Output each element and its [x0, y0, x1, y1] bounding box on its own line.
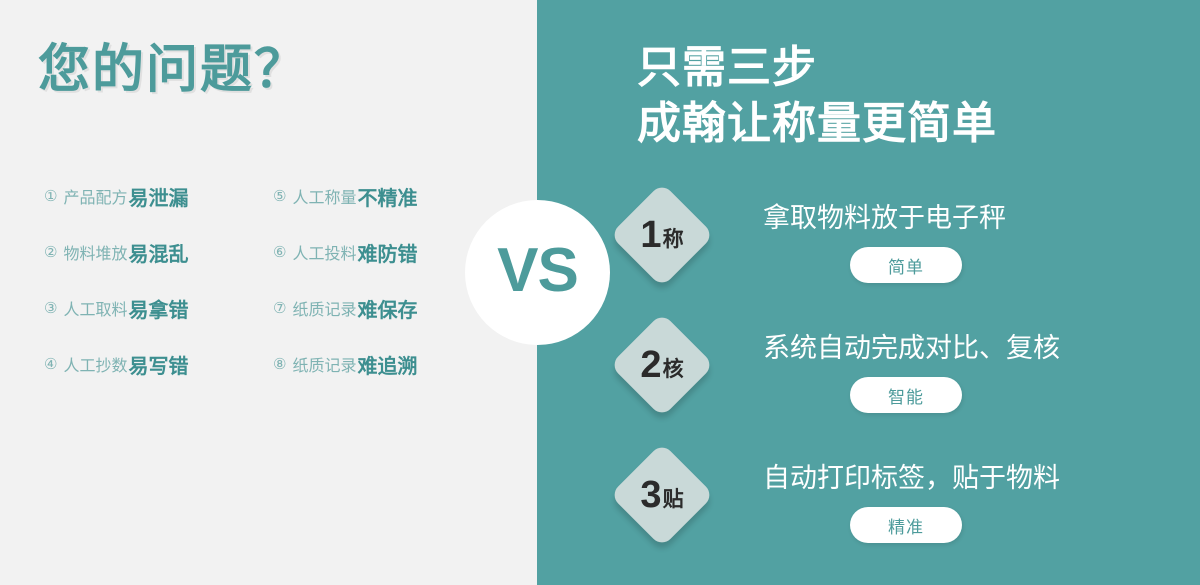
step-row: 1 称 拿取物料放于电子秤 简单: [625, 190, 1185, 320]
item-plain-text: 人工取料: [63, 296, 127, 320]
item-number: ⑦: [273, 301, 286, 316]
item-number: ③: [44, 301, 57, 316]
step-badge-pill: 智能: [850, 377, 962, 413]
step-row: 2 核 系统自动完成对比、复核 智能: [625, 320, 1185, 450]
step-pill-label: 智能: [888, 383, 924, 408]
item-strong-text: 易泄漏: [128, 182, 188, 211]
list-item: ⑥ 人工投料 难防错: [259, 224, 474, 280]
item-number: ⑤: [273, 189, 286, 204]
step-number: 3: [640, 476, 661, 514]
right-panel-title: 只需三步 成翰让称量更简单: [637, 40, 997, 153]
step-description: 系统自动完成对比、复核: [763, 326, 1060, 365]
step-pill-label: 精准: [888, 513, 924, 538]
item-plain-text: 人工抄数: [63, 352, 127, 376]
list-item: ① 产品配方 易泄漏: [44, 168, 259, 224]
item-plain-text: 纸质记录: [292, 296, 356, 320]
item-plain-text: 物料堆放: [63, 240, 127, 264]
step-keyword: 核: [663, 359, 684, 380]
vs-divider-badge: VS: [465, 200, 610, 345]
step-keyword: 称: [663, 229, 684, 250]
list-item: ⑦ 纸质记录 难保存: [259, 280, 474, 336]
step-keyword: 贴: [663, 489, 684, 510]
list-item: ④ 人工抄数 易写错: [44, 336, 259, 392]
item-strong-text: 易写错: [128, 350, 188, 379]
item-number: ⑥: [273, 245, 286, 260]
item-number: ④: [44, 357, 57, 372]
item-number: ②: [44, 245, 57, 260]
step-badge-label: 3 贴: [625, 458, 699, 532]
item-plain-text: 人工称量: [292, 184, 356, 208]
step-badge-pill: 精准: [850, 507, 962, 543]
right-title-line-1: 只需三步: [637, 40, 997, 96]
step-number: 2: [640, 346, 661, 384]
item-plain-text: 产品配方: [63, 184, 127, 208]
list-item: ⑤ 人工称量 不精准: [259, 168, 474, 224]
step-pill-label: 简单: [888, 253, 924, 278]
list-item: ③ 人工取料 易拿错: [44, 280, 259, 336]
step-description: 自动打印标签，贴于物料: [763, 456, 1060, 495]
list-item: ② 物料堆放 易混乱: [44, 224, 259, 280]
right-solution-panel: 只需三步 成翰让称量更简单 1 称 拿取物料放于电子秤 简单 2 核: [537, 0, 1200, 585]
problem-list: ① 产品配方 易泄漏 ⑤ 人工称量 不精准 ② 物料堆放 易混乱 ⑥ 人工投料 …: [44, 168, 474, 392]
item-strong-text: 易拿错: [128, 294, 188, 323]
item-strong-text: 易混乱: [128, 238, 188, 267]
step-badge-pill: 简单: [850, 247, 962, 283]
step-row: 3 贴 自动打印标签，贴于物料 精准: [625, 450, 1185, 580]
item-plain-text: 人工投料: [292, 240, 356, 264]
item-strong-text: 难保存: [357, 294, 417, 323]
step-description: 拿取物料放于电子秤: [763, 196, 1006, 235]
item-number: ①: [44, 189, 57, 204]
left-panel-title: 您的问题？: [38, 42, 308, 99]
step-badge-label: 2 核: [625, 328, 699, 402]
step-number: 1: [640, 216, 661, 254]
item-strong-text: 难防错: [357, 238, 417, 267]
item-strong-text: 难追溯: [357, 350, 417, 379]
left-problems-panel: 您的问题？ ① 产品配方 易泄漏 ⑤ 人工称量 不精准 ② 物料堆放 易混乱 ⑥…: [0, 0, 537, 585]
list-item: ⑧ 纸质记录 难追溯: [259, 336, 474, 392]
promo-slide: 您的问题？ ① 产品配方 易泄漏 ⑤ 人工称量 不精准 ② 物料堆放 易混乱 ⑥…: [0, 0, 1200, 585]
steps-list: 1 称 拿取物料放于电子秤 简单 2 核 系统自动完成对比、复核 智能: [625, 190, 1185, 580]
item-strong-text: 不精准: [357, 182, 417, 211]
item-number: ⑧: [273, 357, 286, 372]
item-plain-text: 纸质记录: [292, 352, 356, 376]
vs-label: VS: [497, 240, 578, 302]
right-title-line-2: 成翰让称量更简单: [637, 96, 997, 152]
step-badge-label: 1 称: [625, 198, 699, 272]
